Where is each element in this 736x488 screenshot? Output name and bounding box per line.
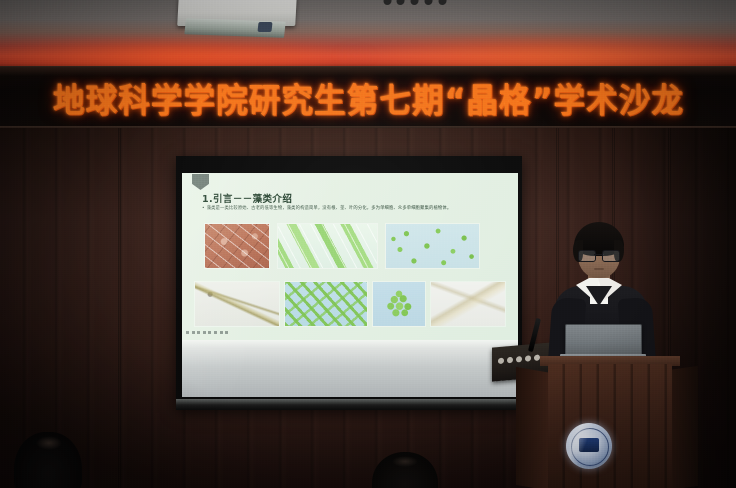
slide-body-paragraph: 藻类是一类比较原始、古老的低等生物，藻类的构造简单，没有根、茎、叶的分化，多为单… — [207, 206, 452, 211]
algae-micrograph-strand — [195, 282, 279, 326]
algae-micrograph-colony — [373, 282, 425, 326]
algae-micrograph-dinoflagellate — [431, 282, 505, 326]
fit-slide-icon[interactable] — [225, 331, 228, 334]
slide-body-text: •藻类是一类比较原始、古老的低等生物，藻类的构造简单，没有根、茎、叶的分化，多为… — [202, 206, 507, 212]
slide-title: 1.引言－－藻类介绍 — [202, 191, 292, 205]
university-seal-icon — [566, 423, 612, 469]
podium-wood-grain — [548, 364, 672, 488]
slide-image-row-top: 硅藻 蓝藻 蓝藻 — [204, 223, 480, 269]
projector-controls — [383, 0, 449, 6]
podium-left-face — [516, 367, 552, 488]
slide-thumbnail: 蓝藻 — [277, 223, 378, 269]
console-button[interactable] — [516, 356, 522, 363]
presentation-slide: 1.引言－－藻类介绍 •藻类是一类比较原始、古老的低等生物，藻类的构造简单，没有… — [182, 173, 518, 340]
zoom-slider-icon[interactable] — [214, 331, 217, 334]
slide-thumbnail: 硅藻 — [204, 223, 270, 269]
podium — [548, 364, 672, 488]
slideshow-icon[interactable] — [203, 331, 206, 334]
slide-decoration-shape — [192, 174, 209, 190]
audience-hair-highlight — [36, 436, 62, 450]
console-button[interactable] — [525, 355, 531, 362]
projection-screen: 1.引言－－藻类介绍 •藻类是一类比较原始、古老的低等生物，藻类的构造简单，没有… — [182, 173, 518, 397]
algae-micrograph-rods — [285, 282, 367, 326]
banner-title: 地球科学学院研究生第七期“晶格”学术沙龙 — [52, 73, 683, 122]
audience-hair-highlight — [392, 456, 418, 467]
console-button-row[interactable] — [498, 354, 540, 364]
reading-view-icon[interactable] — [197, 331, 200, 334]
outline-view-icon[interactable] — [192, 331, 195, 334]
event-banner: 地球科学学院研究生第七期“晶格”学术沙龙 — [0, 66, 736, 128]
algae-micrograph-diatom — [205, 224, 269, 268]
presenter-mouth — [594, 268, 604, 270]
wall-shadow-left — [0, 128, 190, 488]
lecture-hall-photo: 地球科学学院研究生第七期“晶格”学术沙龙 1.引言－－藻类介绍 •藻类是一类比较… — [0, 0, 736, 488]
slide-thumbnail: 绿藻 — [284, 281, 368, 327]
console-button[interactable] — [507, 357, 513, 364]
ceiling-wall — [0, 0, 736, 70]
screen-lower-area — [182, 340, 518, 397]
slide-thumbnail: 绿藻 — [372, 281, 426, 327]
slide-thumbnail: 硅藻 — [194, 281, 280, 327]
bullet-icon: • — [202, 206, 205, 212]
algae-micrograph-filament — [278, 224, 377, 268]
powerpoint-status-toolbar[interactable] — [186, 331, 228, 334]
presenter-laptop[interactable] — [565, 324, 642, 358]
algae-micrograph-cells — [386, 224, 479, 268]
podium-right-face — [668, 366, 698, 488]
screen-bottom-bar — [176, 399, 522, 410]
console-button[interactable] — [498, 358, 504, 365]
slide-thumbnail: 蓝藻 — [385, 223, 480, 269]
slide-image-row-bottom: 硅藻 绿藻 绿藻 甲藻 — [194, 281, 506, 327]
zoom-out-icon[interactable] — [208, 331, 211, 334]
eyeglasses-icon — [578, 250, 620, 260]
zoom-in-icon[interactable] — [220, 331, 223, 334]
slide-thumbnail: 甲藻 — [430, 281, 506, 327]
slide-view-icon[interactable] — [186, 331, 189, 334]
projector-lens-icon — [257, 22, 272, 32]
